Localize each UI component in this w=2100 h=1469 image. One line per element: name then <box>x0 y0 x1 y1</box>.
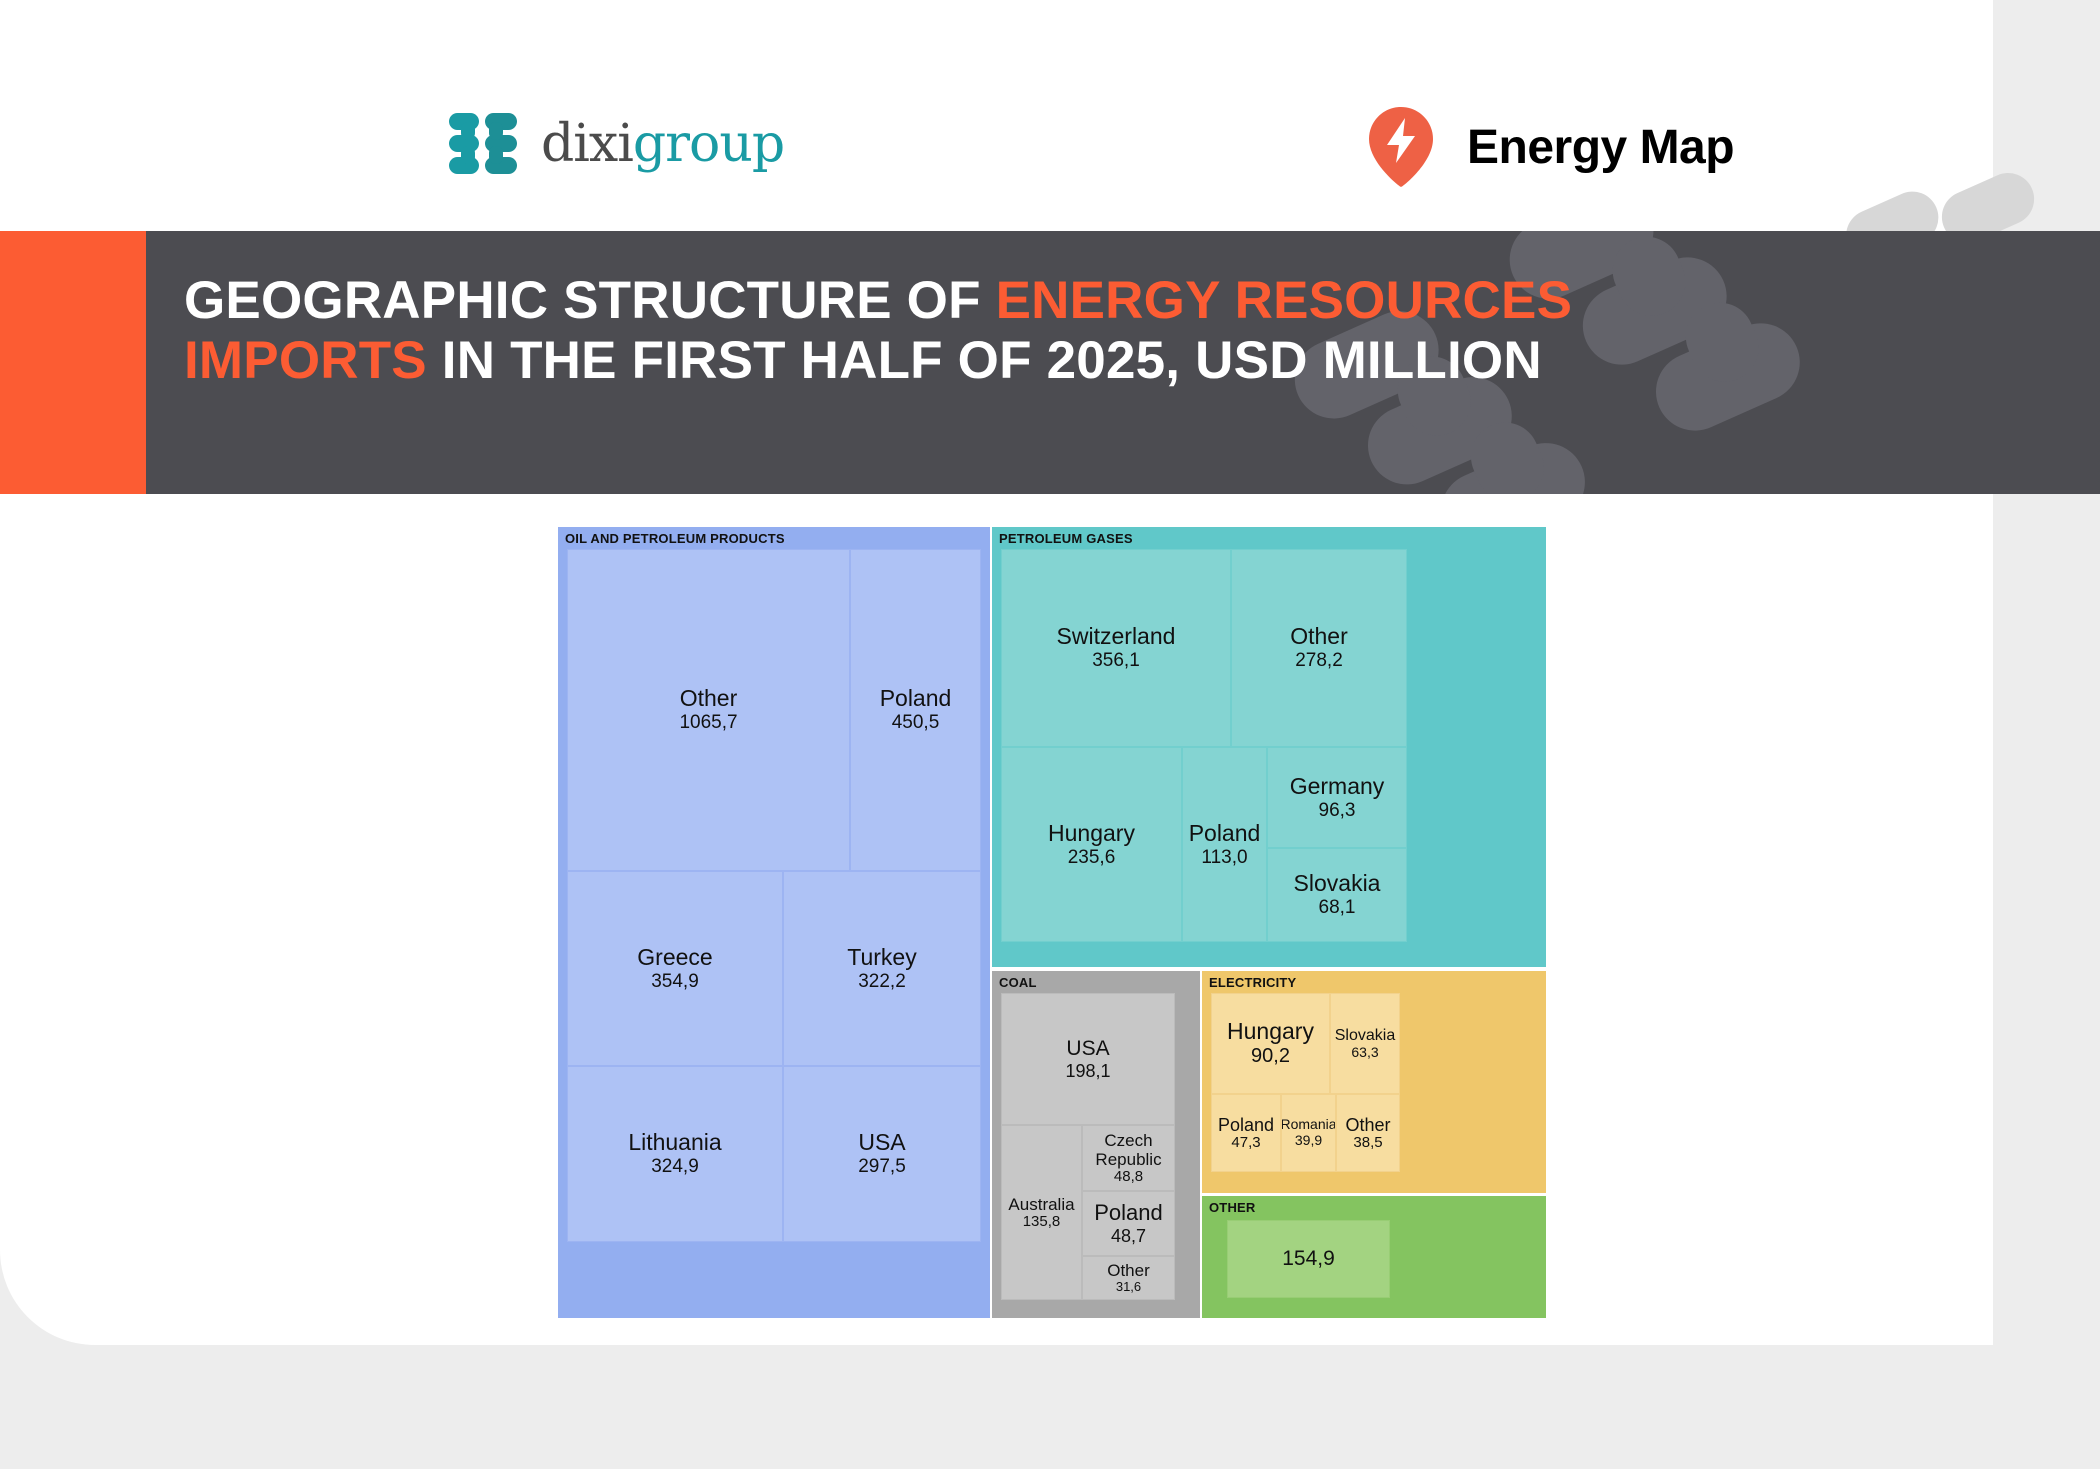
treemap-group-oil-and-petroleum-products[interactable]: OIL AND PETROLEUM PRODUCTS Other 1065,7 … <box>558 527 990 1318</box>
treemap-tile-lithuania[interactable]: Lithuania 324,9 <box>567 1066 783 1242</box>
treemap-tile-poland[interactable]: Poland 48,7 <box>1082 1191 1175 1256</box>
title-segment-3: IMPORTS <box>184 331 427 390</box>
treemap-tile-other[interactable]: Other 31,6 <box>1082 1256 1175 1300</box>
treemap-tile-romania[interactable]: Romania 39,9 <box>1281 1094 1336 1172</box>
page-title: GEOGRAPHIC STRUCTURE OF ENERGY RESOURCES… <box>184 271 1704 392</box>
treemap-tile-poland[interactable]: Poland 113,0 <box>1182 747 1267 942</box>
treemap-group-label: PETROLEUM GASES <box>999 531 1133 546</box>
dixi-group-logo: dixigroup <box>447 108 784 180</box>
title-band: GEOGRAPHIC STRUCTURE OF ENERGY RESOURCES… <box>146 231 2100 494</box>
title-segment-4: IN THE FIRST HALF OF 2025, USD MILLION <box>427 331 1542 390</box>
energy-map-title: Energy Map <box>1467 120 1734 175</box>
treemap-tile-greece[interactable]: Greece 354,9 <box>567 871 783 1066</box>
treemap-group-label: ELECTRICITY <box>1209 975 1296 990</box>
treemap-tile-hungary[interactable]: Hungary 235,6 <box>1001 747 1182 942</box>
treemap-group-label: OIL AND PETROLEUM PRODUCTS <box>565 531 785 546</box>
treemap-tile-slovakia[interactable]: Slovakia 63,3 <box>1330 993 1400 1094</box>
title-segment-2: ENERGY RESOURCES <box>996 271 1573 330</box>
treemap-tile-slovakia[interactable]: Slovakia 68,1 <box>1267 848 1407 942</box>
treemap-group-label: COAL <box>999 975 1037 990</box>
dixi-group-wordmark: dixigroup <box>541 118 784 170</box>
treemap-tile-usa[interactable]: USA 198,1 <box>1001 993 1175 1125</box>
treemap-tile-other[interactable]: Other 278,2 <box>1231 549 1407 747</box>
treemap-tile-other-value[interactable]: 154,9 <box>1227 1220 1390 1298</box>
title-accent-block <box>0 231 146 494</box>
treemap-tile-turkey[interactable]: Turkey 322,2 <box>783 871 981 1066</box>
treemap-tile-poland[interactable]: Poland 450,5 <box>850 549 981 871</box>
treemap-group-petroleum-gases[interactable]: PETROLEUM GASES Switzerland 356,1 Other … <box>992 527 1546 967</box>
treemap-group-electricity[interactable]: ELECTRICITY Hungary 90,2 Slovakia 63,3 P… <box>1202 971 1546 1193</box>
treemap-group-label: OTHER <box>1209 1200 1256 1215</box>
group-word: group <box>633 114 784 174</box>
brand-header: dixigroup Energy Map <box>0 0 1993 231</box>
treemap-tile-usa[interactable]: USA 297,5 <box>783 1066 981 1242</box>
energy-map-logo: Energy Map <box>1365 105 1734 189</box>
treemap-tile-poland[interactable]: Poland 47,3 <box>1211 1094 1281 1172</box>
treemap-group-other[interactable]: OTHER 154,9 <box>1202 1196 1546 1318</box>
title-segment-1: GEOGRAPHIC STRUCTURE OF <box>184 271 996 330</box>
dixi-word: dixi <box>541 114 633 174</box>
treemap-group-coal[interactable]: COAL USA 198,1 Australia 135,8 Czech Rep… <box>992 971 1200 1318</box>
treemap-tile-czech-republic[interactable]: Czech Republic 48,8 <box>1082 1125 1175 1191</box>
treemap-tile-switzerland[interactable]: Switzerland 356,1 <box>1001 549 1231 747</box>
map-pin-lightning-icon <box>1365 105 1437 189</box>
treemap-tile-hungary[interactable]: Hungary 90,2 <box>1211 993 1330 1094</box>
treemap-tile-other[interactable]: Other 38,5 <box>1336 1094 1400 1172</box>
dixi-puzzle-logo-icon <box>447 108 519 180</box>
treemap-tile-germany[interactable]: Germany 96,3 <box>1267 747 1407 848</box>
treemap-tile-other[interactable]: Other 1065,7 <box>567 549 850 871</box>
treemap-chart: OIL AND PETROLEUM PRODUCTS Other 1065,7 … <box>558 527 1546 1318</box>
treemap-tile-australia[interactable]: Australia 135,8 <box>1001 1125 1082 1300</box>
